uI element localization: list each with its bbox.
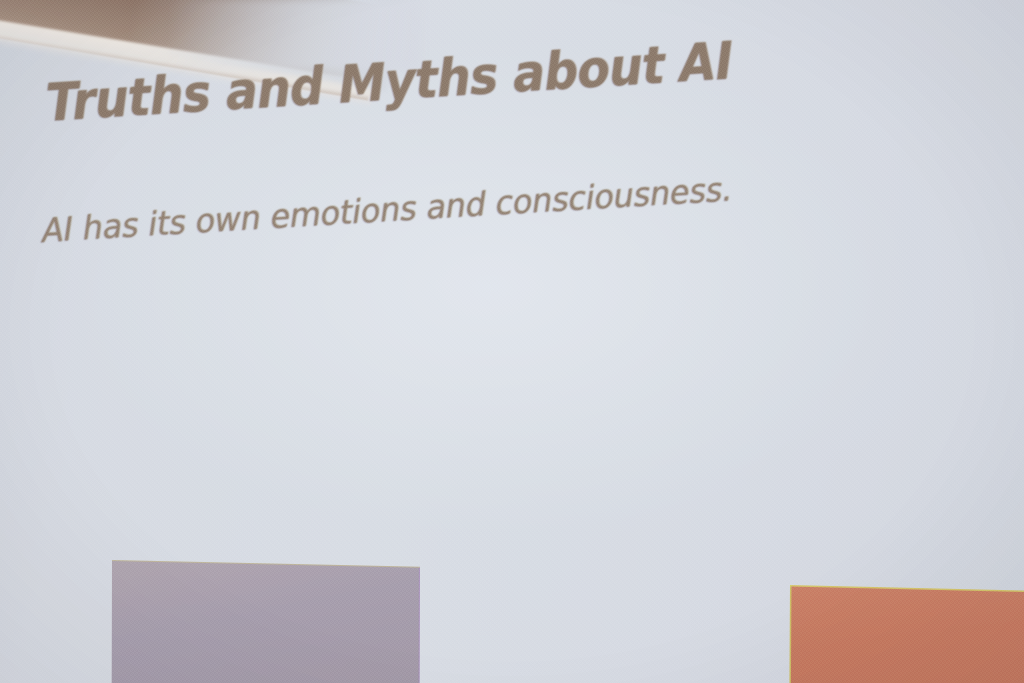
right-card <box>789 585 1024 683</box>
slide-photo: Truths and Myths about AI AI has its own… <box>0 0 1024 683</box>
screen-edge-fade <box>170 0 420 70</box>
left-card <box>112 560 420 683</box>
